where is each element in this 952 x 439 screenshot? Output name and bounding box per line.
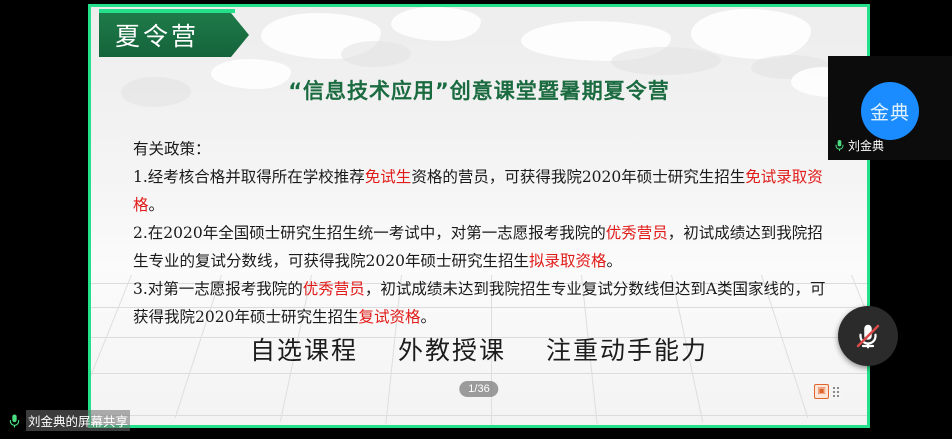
slide-slogans: 自选课程 外教授课 注重动手能力 — [91, 331, 867, 367]
slide-title: “信息技术应用”创意课堂暨暑期夏令营 — [91, 75, 867, 105]
screen-share-status: 刘金典的屏幕共享 — [8, 410, 130, 431]
text-run: 。 — [606, 252, 622, 270]
text-run: 3.对第一志愿报考我院的 — [133, 280, 303, 298]
highlighted-term: 拟录取资格 — [529, 252, 607, 270]
microphone-icon — [834, 139, 845, 152]
text-run: 。 — [149, 196, 165, 214]
slide-body-text: 有关政策： 1.经考核合格并取得所在学校推荐免试生资格的营员，可获得我院2020… — [133, 135, 837, 331]
highlighted-term: 优秀营员 — [606, 224, 668, 242]
text-run: 2.在2020年全国硕士研究生招生统一考试中，对第一志愿报考我院的 — [133, 224, 606, 242]
taskbar-app-chip[interactable]: ▣ — [810, 382, 843, 401]
page-indicator: 1/36 — [459, 381, 498, 397]
policy-1: 1.经考核合格并取得所在学校推荐免试生资格的营员，可获得我院2020年硕士研究生… — [133, 163, 837, 219]
shared-screen-region[interactable]: 夏令营 “信息技术应用”创意课堂暨暑期夏令营 有关政策： 1.经考核合格并取得所… — [88, 4, 870, 428]
slide-banner-label: 夏令营 — [115, 17, 199, 53]
policy-3: 3.对第一志愿报考我院的优秀营员，初试成绩未达到我院招生专业复试分数线但达到A类… — [133, 275, 837, 331]
zoom-meeting-window: 夏令营 “信息技术应用”创意课堂暨暑期夏令营 有关政策： 1.经考核合格并取得所… — [0, 0, 952, 439]
participant-name: 刘金典 — [848, 137, 884, 154]
highlighted-term: 优秀营员 — [303, 280, 365, 298]
drag-handle-icon[interactable] — [833, 387, 839, 397]
text-run: 1.经考核合格并取得所在学校推荐 — [133, 168, 365, 186]
participant-name-badge: 刘金典 — [834, 137, 884, 154]
banner-accent-bar — [99, 9, 235, 13]
policy-intro: 有关政策： — [133, 135, 837, 163]
text-run: 资格的营员，可获得我院2020年硕士研究生招生 — [411, 168, 745, 186]
microphone-muted-icon — [853, 321, 883, 351]
avatar-initials: 金典 — [870, 98, 910, 125]
mute-toggle-button[interactable] — [838, 306, 898, 366]
policy-2: 2.在2020年全国硕士研究生招生统一考试中，对第一志愿报考我院的优秀营员，初试… — [133, 219, 837, 275]
slogan-item: 外教授课 — [398, 331, 506, 367]
avatar: 金典 — [861, 82, 919, 140]
highlighted-term: 复试资格 — [358, 308, 420, 326]
participant-video-tile[interactable]: 金典 刘金典 — [828, 56, 952, 160]
slogan-item: 注重动手能力 — [546, 331, 708, 367]
text-run: 。 — [420, 308, 436, 326]
slogan-item: 自选课程 — [250, 331, 358, 367]
slide-banner-tag: 夏令营 — [99, 13, 249, 57]
highlighted-term: 免试生 — [365, 168, 412, 186]
microphone-icon[interactable] — [8, 413, 21, 429]
app-icon[interactable]: ▣ — [814, 384, 829, 399]
share-status-label: 刘金典的屏幕共享 — [26, 410, 130, 431]
presentation-slide: 夏令营 “信息技术应用”创意课堂暨暑期夏令营 有关政策： 1.经考核合格并取得所… — [91, 7, 867, 425]
